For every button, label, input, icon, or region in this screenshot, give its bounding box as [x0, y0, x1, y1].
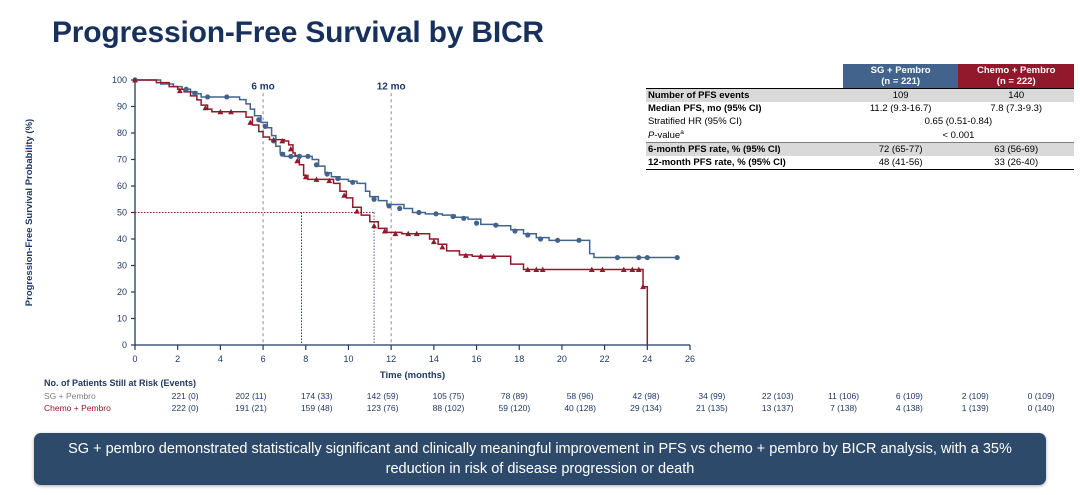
x-axis-tick-label: 24 [642, 354, 652, 364]
x-axis-tick-label: 12 [386, 354, 396, 364]
stats-header-sg-pembro: SG + Pembro (n = 221) [843, 64, 959, 89]
risk-value-cell: 78 (89) [481, 390, 547, 402]
footnote-marker: a [680, 129, 684, 136]
censor-markers-chemo [371, 223, 377, 228]
censor-markers-sg [256, 117, 261, 122]
stats-value-sg: 72 (65-77) [843, 143, 959, 157]
risk-table-title: No. of Patients Still at Risk (Events) [44, 378, 1074, 388]
stats-row-label: 6-month PFS rate, % (95% CI) [646, 143, 843, 157]
stats-value-sg: 109 [843, 89, 959, 103]
risk-value-cell: 7 (138) [811, 402, 877, 414]
x-axis-tick-label: 16 [472, 354, 482, 364]
stats-table-element: SG + Pembro (n = 221) Chemo + Pembro (n … [646, 64, 1074, 170]
risk-table-body: SG + Pembro221 (0)202 (11)174 (33)142 (5… [44, 390, 1074, 414]
risk-value-cell: 21 (135) [679, 402, 745, 414]
risk-value-cell: 0 (140) [1008, 402, 1074, 414]
risk-value-cell: 2 (109) [942, 390, 1008, 402]
y-axis-tick-label: 90 [117, 102, 127, 112]
censor-markers-sg [512, 228, 517, 233]
stats-value-chemo: 63 (56-69) [958, 143, 1074, 157]
x-axis-tick-label: 14 [429, 354, 439, 364]
stats-header-sg-name: SG + Pembro [871, 65, 931, 76]
stats-row: P-valuea< 0.001 [646, 128, 1074, 143]
censor-markers-sg [555, 238, 560, 243]
censor-markers-sg [525, 232, 530, 237]
x-axis-tick-label: 6 [261, 354, 266, 364]
censor-markers-sg [493, 223, 498, 228]
risk-value-cell: 88 (102) [416, 402, 482, 414]
censor-markers-sg [314, 162, 319, 167]
km-plot-svg: 0102030405060708090100024681012141618202… [0, 60, 700, 390]
y-axis-tick-label: 100 [112, 75, 127, 85]
stats-row: 6-month PFS rate, % (95% CI)72 (65-77)63… [646, 143, 1074, 157]
stats-row: Median PFS, mo (95% CI)11.2 (9.3-16.7)7.… [646, 102, 1074, 115]
censor-markers-sg [386, 203, 391, 208]
stats-row: Stratified HR (95% CI)0.65 (0.51-0.84) [646, 115, 1074, 128]
x-axis-tick-label: 20 [557, 354, 567, 364]
conclusion-text: SG + pembro demonstrated statistically s… [34, 439, 1046, 479]
censor-markers-chemo [326, 178, 332, 183]
kaplan-meier-chart: 0102030405060708090100024681012141618202… [0, 60, 700, 390]
censor-markers-sg [350, 180, 355, 185]
km-curve-sg-pembro [135, 80, 677, 258]
risk-table-row: SG + Pembro221 (0)202 (11)174 (33)142 (5… [44, 390, 1074, 402]
risk-value-cell: 174 (33) [284, 390, 350, 402]
censor-markers-sg [433, 211, 438, 216]
stats-row-label: P-valuea [646, 128, 843, 143]
censor-markers-sg [538, 236, 543, 241]
conclusion-line-1: SG + pembro demonstrated statistically s… [68, 441, 705, 457]
risk-value-cell: 6 (109) [876, 390, 942, 402]
censor-markers-sg [184, 87, 189, 92]
patients-at-risk-table: No. of Patients Still at Risk (Events) S… [44, 378, 1074, 414]
annotation-label: 6 mo [251, 81, 274, 92]
censor-markers-sg [280, 152, 285, 157]
risk-table-element: SG + Pembro221 (0)202 (11)174 (33)142 (5… [44, 390, 1074, 414]
censor-markers-sg [645, 255, 650, 260]
stats-row-value-spanning: 0.65 (0.51-0.84) [843, 115, 1074, 128]
risk-value-cell: 58 (96) [547, 390, 613, 402]
stats-row-label: Number of PFS events [646, 89, 843, 103]
risk-value-cell: 105 (75) [416, 390, 482, 402]
stats-value-chemo: 7.8 (7.3-9.3) [958, 102, 1074, 115]
risk-value-cell: 191 (21) [218, 402, 284, 414]
page-title: Progression-Free Survival by BICR [52, 16, 544, 50]
censor-markers-sg [474, 221, 479, 226]
risk-value-cell: 4 (138) [876, 402, 942, 414]
x-axis-tick-label: 18 [514, 354, 524, 364]
risk-value-cell: 40 (128) [547, 402, 613, 414]
risk-value-cell: 142 (59) [350, 390, 416, 402]
x-axis-tick-label: 8 [303, 354, 308, 364]
annotation-label: 12 mo [377, 81, 406, 92]
stats-header-sg-n: (n = 221) [881, 76, 920, 87]
x-axis-tick-label: 22 [600, 354, 610, 364]
y-axis-tick-label: 0 [122, 340, 127, 350]
x-axis-tick-label: 26 [685, 354, 695, 364]
stats-value-sg: 11.2 (9.3-16.7) [843, 102, 959, 115]
risk-value-cell: 123 (76) [350, 402, 416, 414]
censor-markers-sg [224, 94, 229, 99]
censor-markers-sg [636, 255, 641, 260]
risk-value-cell: 34 (99) [679, 390, 745, 402]
censor-markers-sg [576, 238, 581, 243]
risk-table-row: Chemo + Pembro222 (0)191 (21)159 (48)123… [44, 402, 1074, 414]
y-axis-tick-label: 60 [117, 181, 127, 191]
censor-markers-sg [263, 124, 268, 129]
censor-markers-sg [305, 154, 310, 159]
stats-row-value-spanning: < 0.001 [843, 128, 1074, 143]
censor-markers-sg [461, 216, 466, 221]
risk-row-arm-label: Chemo + Pembro [44, 402, 152, 414]
censor-markers-sg [205, 94, 210, 99]
y-axis-tick-label: 50 [117, 208, 127, 218]
x-axis-tick-label: 0 [132, 354, 137, 364]
x-axis-tick-label: 2 [175, 354, 180, 364]
conclusion-banner: SG + pembro demonstrated statistically s… [34, 433, 1046, 485]
censor-markers-sg [192, 91, 197, 96]
censor-markers-sg [675, 255, 680, 260]
stats-table-body: Number of PFS events109140Median PFS, mo… [646, 89, 1074, 170]
risk-value-cell: 59 (120) [481, 402, 547, 414]
stats-row: 12-month PFS rate, % (95% CI)48 (41-56)3… [646, 156, 1074, 170]
risk-value-cell: 22 (103) [745, 390, 811, 402]
censor-markers-chemo [354, 208, 360, 213]
stats-header-chemo-n: (n = 222) [997, 76, 1036, 87]
risk-value-cell: 221 (0) [152, 390, 218, 402]
risk-value-cell: 1 (139) [942, 402, 1008, 414]
censor-markers-sg [325, 171, 330, 176]
slide-root: Progression-Free Survival by BICR 010203… [0, 0, 1080, 495]
censor-markers-sg [297, 154, 302, 159]
censor-markers-sg [615, 255, 620, 260]
risk-value-cell: 202 (11) [218, 390, 284, 402]
y-axis-tick-label: 70 [117, 155, 127, 165]
y-axis-tick-label: 80 [117, 128, 127, 138]
stats-row: Number of PFS events109140 [646, 89, 1074, 103]
censor-markers-sg [371, 197, 376, 202]
stats-header-chemo-pembro: Chemo + Pembro (n = 222) [958, 64, 1074, 89]
x-axis-tick-label: 4 [218, 354, 223, 364]
x-axis-tick-label: 10 [343, 354, 353, 364]
risk-value-cell: 42 (98) [613, 390, 679, 402]
censor-markers-sg [288, 154, 293, 159]
stats-value-sg: 48 (41-56) [843, 156, 959, 170]
risk-value-cell: 29 (134) [613, 402, 679, 414]
stats-header-chemo-name: Chemo + Pembro [977, 65, 1055, 76]
censor-markers-sg [450, 214, 455, 219]
censor-markers-sg [397, 206, 402, 211]
stats-value-chemo: 33 (26-40) [958, 156, 1074, 170]
censor-markers-sg [416, 210, 421, 215]
censor-markers-chemo [393, 231, 399, 236]
stats-value-chemo: 140 [958, 89, 1074, 103]
censor-markers-sg [335, 176, 340, 181]
y-axis-tick-label: 20 [117, 287, 127, 297]
y-axis-title: Progression-Free Survival Probability (%… [24, 119, 35, 306]
risk-row-arm-label: SG + Pembro [44, 390, 152, 402]
stats-header-blank [646, 64, 843, 89]
y-axis-tick-label: 10 [117, 314, 127, 324]
stats-row-label: Stratified HR (95% CI) [646, 115, 843, 128]
statistics-table: SG + Pembro (n = 221) Chemo + Pembro (n … [646, 64, 1074, 170]
y-axis-tick-label: 30 [117, 261, 127, 271]
risk-value-cell: 11 (106) [811, 390, 877, 402]
stats-row-label: Median PFS, mo (95% CI) [646, 102, 843, 115]
risk-value-cell: 159 (48) [284, 402, 350, 414]
risk-value-cell: 13 (137) [745, 402, 811, 414]
stats-row-label: 12-month PFS rate, % (95% CI) [646, 156, 843, 170]
stats-header-row: SG + Pembro (n = 221) Chemo + Pembro (n … [646, 64, 1074, 89]
y-axis-tick-label: 40 [117, 234, 127, 244]
risk-value-cell: 0 (109) [1008, 390, 1074, 402]
risk-value-cell: 222 (0) [152, 402, 218, 414]
